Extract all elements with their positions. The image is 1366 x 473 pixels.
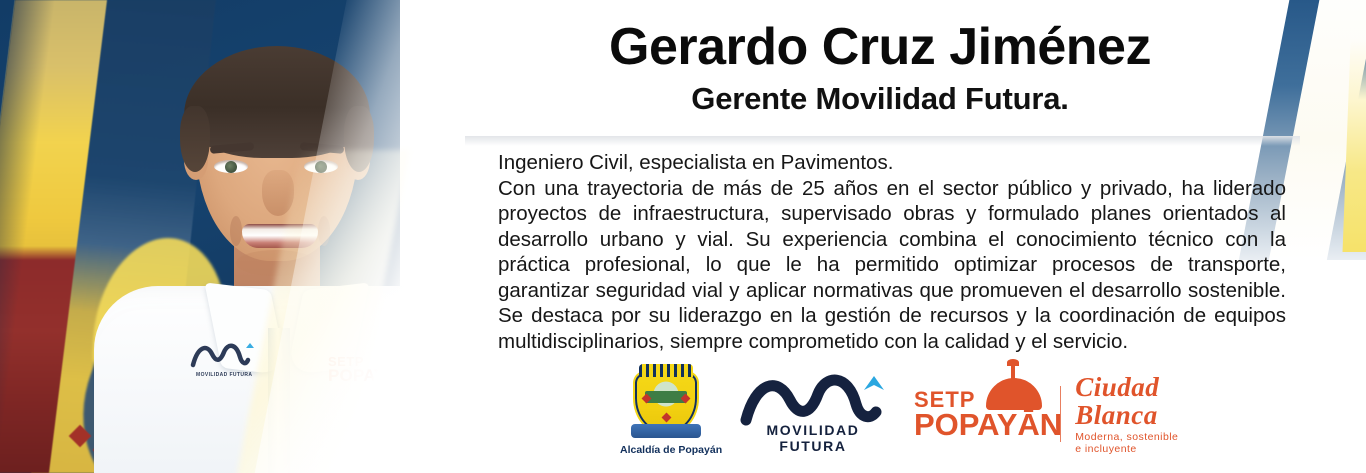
logo-movilidad-futura-caption: MOVILIDAD FUTURA: [738, 422, 888, 454]
bio-text: Ingeniero Civil, especialista en Pavimen…: [498, 150, 1286, 354]
shield-scroll-banner: [631, 424, 701, 438]
logo-setp-popayan: SETP POPAYĀN Ciudad Blanca Moderna, sost…: [914, 373, 1180, 455]
movilidad-futura-wave-icon: [738, 374, 888, 426]
subject-photo: MOVILIDAD FUTURA SETP POPAYÁN Alcaldíade…: [0, 0, 470, 473]
setp-line2: POPAYĀN: [914, 410, 1046, 439]
alcaldia-shield-icon: [635, 373, 697, 433]
shirt-movilidad-futura-logo: MOVILIDAD FUTURA: [190, 340, 264, 378]
subject-hair-side-left: [180, 106, 210, 172]
logo-movilidad-futura: MOVILIDAD FUTURA: [738, 374, 888, 454]
bio-lead: Ingeniero Civil, especialista en Pavimen…: [498, 150, 1286, 176]
bio-paragraph: Con una trayectoria de más de 25 años en…: [498, 176, 1286, 355]
title-block: Gerardo Cruz Jiménez Gerente Movilidad F…: [470, 18, 1290, 118]
setp-wordmark: SETP POPAYĀN: [914, 390, 1046, 439]
subject-smile-line-left: [230, 216, 242, 246]
person-role: Gerente Movilidad Futura.: [470, 80, 1290, 118]
ciudad-blanca-title: Ciudad Blanca: [1075, 373, 1180, 429]
person-name: Gerardo Cruz Jiménez: [470, 18, 1290, 76]
shirt-movilidad-futura-label: MOVILIDAD FUTURA: [196, 372, 252, 378]
footer-logo-row: Alcaldía de Popayán MOVILIDAD FUTURA SET…: [620, 368, 1180, 460]
logo-alcaldia-caption: Alcaldía de Popayán: [620, 444, 712, 456]
ciudad-blanca-subtitle: Moderna, sostenible e incluyente: [1075, 431, 1180, 455]
shield-cross-icon: [662, 412, 672, 422]
profile-banner: MOVILIDAD FUTURA SETP POPAYÁN Alcaldíade…: [0, 0, 1366, 473]
ciudad-blanca-slogan: Ciudad Blanca Moderna, sostenible e incl…: [1075, 373, 1180, 455]
logo-alcaldia-popayan: Alcaldía de Popayán: [620, 373, 712, 456]
setp-divider: [1060, 386, 1061, 442]
shield-crown-icon: [639, 364, 693, 377]
subject-eye-left: [214, 160, 248, 173]
title-divider: [465, 136, 1300, 146]
